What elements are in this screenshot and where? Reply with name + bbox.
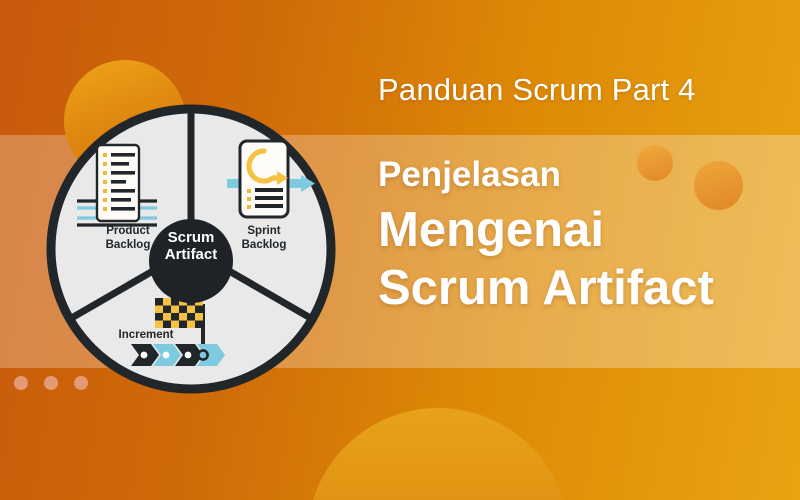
wheel-hub [149, 219, 233, 303]
sprint-text-lines [255, 188, 283, 208]
poster-heading-line-2: Scrum Artifact [378, 260, 788, 318]
sprint-bullets [247, 189, 251, 209]
wheel-svg [43, 101, 339, 397]
poster-kicker: Panduan Scrum Part 4 [378, 72, 788, 108]
decorative-dot [14, 376, 28, 390]
poster-canvas: Panduan Scrum Part 4 Penjelasan Mengenai… [0, 0, 800, 500]
text-column: Panduan Scrum Part 4 Penjelasan Mengenai… [378, 72, 788, 318]
decorative-circle-bottom-center [307, 408, 569, 500]
poster-heading-line-1: Mengenai [378, 202, 788, 260]
poster-heading: Mengenai Scrum Artifact [378, 202, 788, 318]
progress-chevrons [131, 344, 225, 366]
poster-subheading: Penjelasan [378, 156, 788, 195]
scrum-artifact-wheel: Product Backlog Sprint Backlog Increment… [43, 101, 339, 397]
